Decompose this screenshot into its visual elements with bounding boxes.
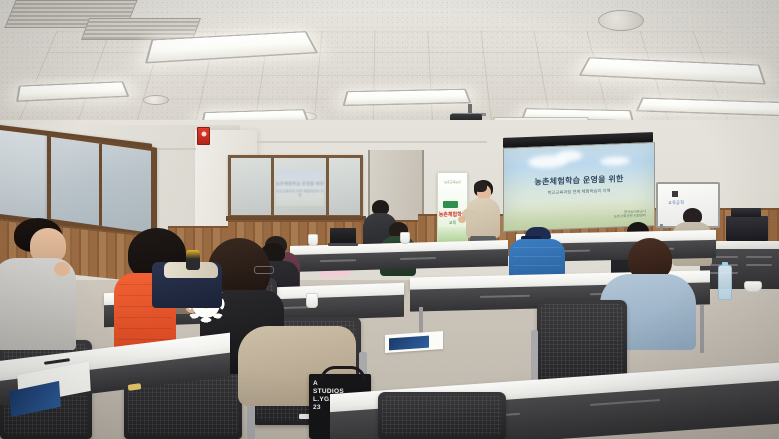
- table-leg: [700, 305, 704, 353]
- projection-screen-surface: 농촌체험학습 운영을 위한 학교교육과정 연계 체험학습의 이해 한국농어촌공사…: [504, 143, 654, 231]
- whiteboard-logo-icon: [672, 191, 678, 197]
- attendee-hand: [54, 262, 70, 276]
- laptop-base: [328, 243, 358, 246]
- paper-cup: [306, 293, 318, 308]
- av-equipment-rack: [726, 216, 768, 241]
- interior-window-pane-2: 농촌체험학습 운영을 위한 학교교육과정 연계 체험학습의 이해: [274, 158, 326, 215]
- pink-notebook[interactable]: [320, 270, 350, 277]
- reflection-subtitle: 학교교육과정 연계 체험학습의 이해: [276, 189, 324, 197]
- ceiling-dome-light: [598, 10, 644, 31]
- slide-footer: 한국농어촌공사 농촌사회공헌 지원센터: [576, 209, 646, 221]
- av-equipment-top: [731, 208, 761, 217]
- ceiling-sprinkler-left: [143, 95, 169, 105]
- thermos-bottle: [186, 250, 200, 270]
- whiteboard-label: 교육공학: [668, 200, 684, 206]
- wall-trim-back: [257, 141, 487, 143]
- banner-badge: [443, 201, 458, 208]
- classroom-photo: 농촌체험학습 운영을 위한 학교교육과정 연계 체험학습의 이해 농촌체험학습 …: [0, 0, 779, 439]
- attendee-grey-left: [0, 218, 84, 348]
- interior-window-frame: 농촌체험학습 운영을 위한 학교교육과정 연계 체험학습의 이해: [228, 155, 363, 218]
- presenter: [462, 180, 502, 246]
- projection-screen: 농촌체험학습 운영을 위한 학교교육과정 연계 체험학습의 이해 한국농어촌공사…: [503, 142, 655, 232]
- window-slide-reflection: 농촌체험학습 운영을 위한 학교교육과정 연계 체험학습의 이해: [276, 170, 324, 206]
- interior-window-pane-3: [329, 158, 360, 215]
- interior-window-pane-1: [231, 158, 271, 215]
- tote-bag-handle: [320, 366, 366, 381]
- reflection-title: 농촌체험학습 운영을 위한: [276, 181, 324, 187]
- fire-alarm-icon: [197, 127, 210, 145]
- presenter-hand: [458, 216, 466, 223]
- glasses-icon: [254, 266, 274, 274]
- chair[interactable]: [378, 392, 506, 439]
- paper-cup: [744, 281, 762, 292]
- paper-cup: [400, 232, 410, 244]
- laptop[interactable]: [330, 228, 356, 244]
- water-bottle: [718, 265, 732, 300]
- ceiling-light-5: [342, 89, 471, 106]
- window-mullion: [99, 144, 102, 226]
- paper-cup: [308, 234, 318, 246]
- presenter-hair-front: [474, 181, 487, 192]
- slide-content: 농촌체험학습 운영을 위한 학교교육과정 연계 체험학습의 이해 한국농어촌공사…: [504, 143, 654, 231]
